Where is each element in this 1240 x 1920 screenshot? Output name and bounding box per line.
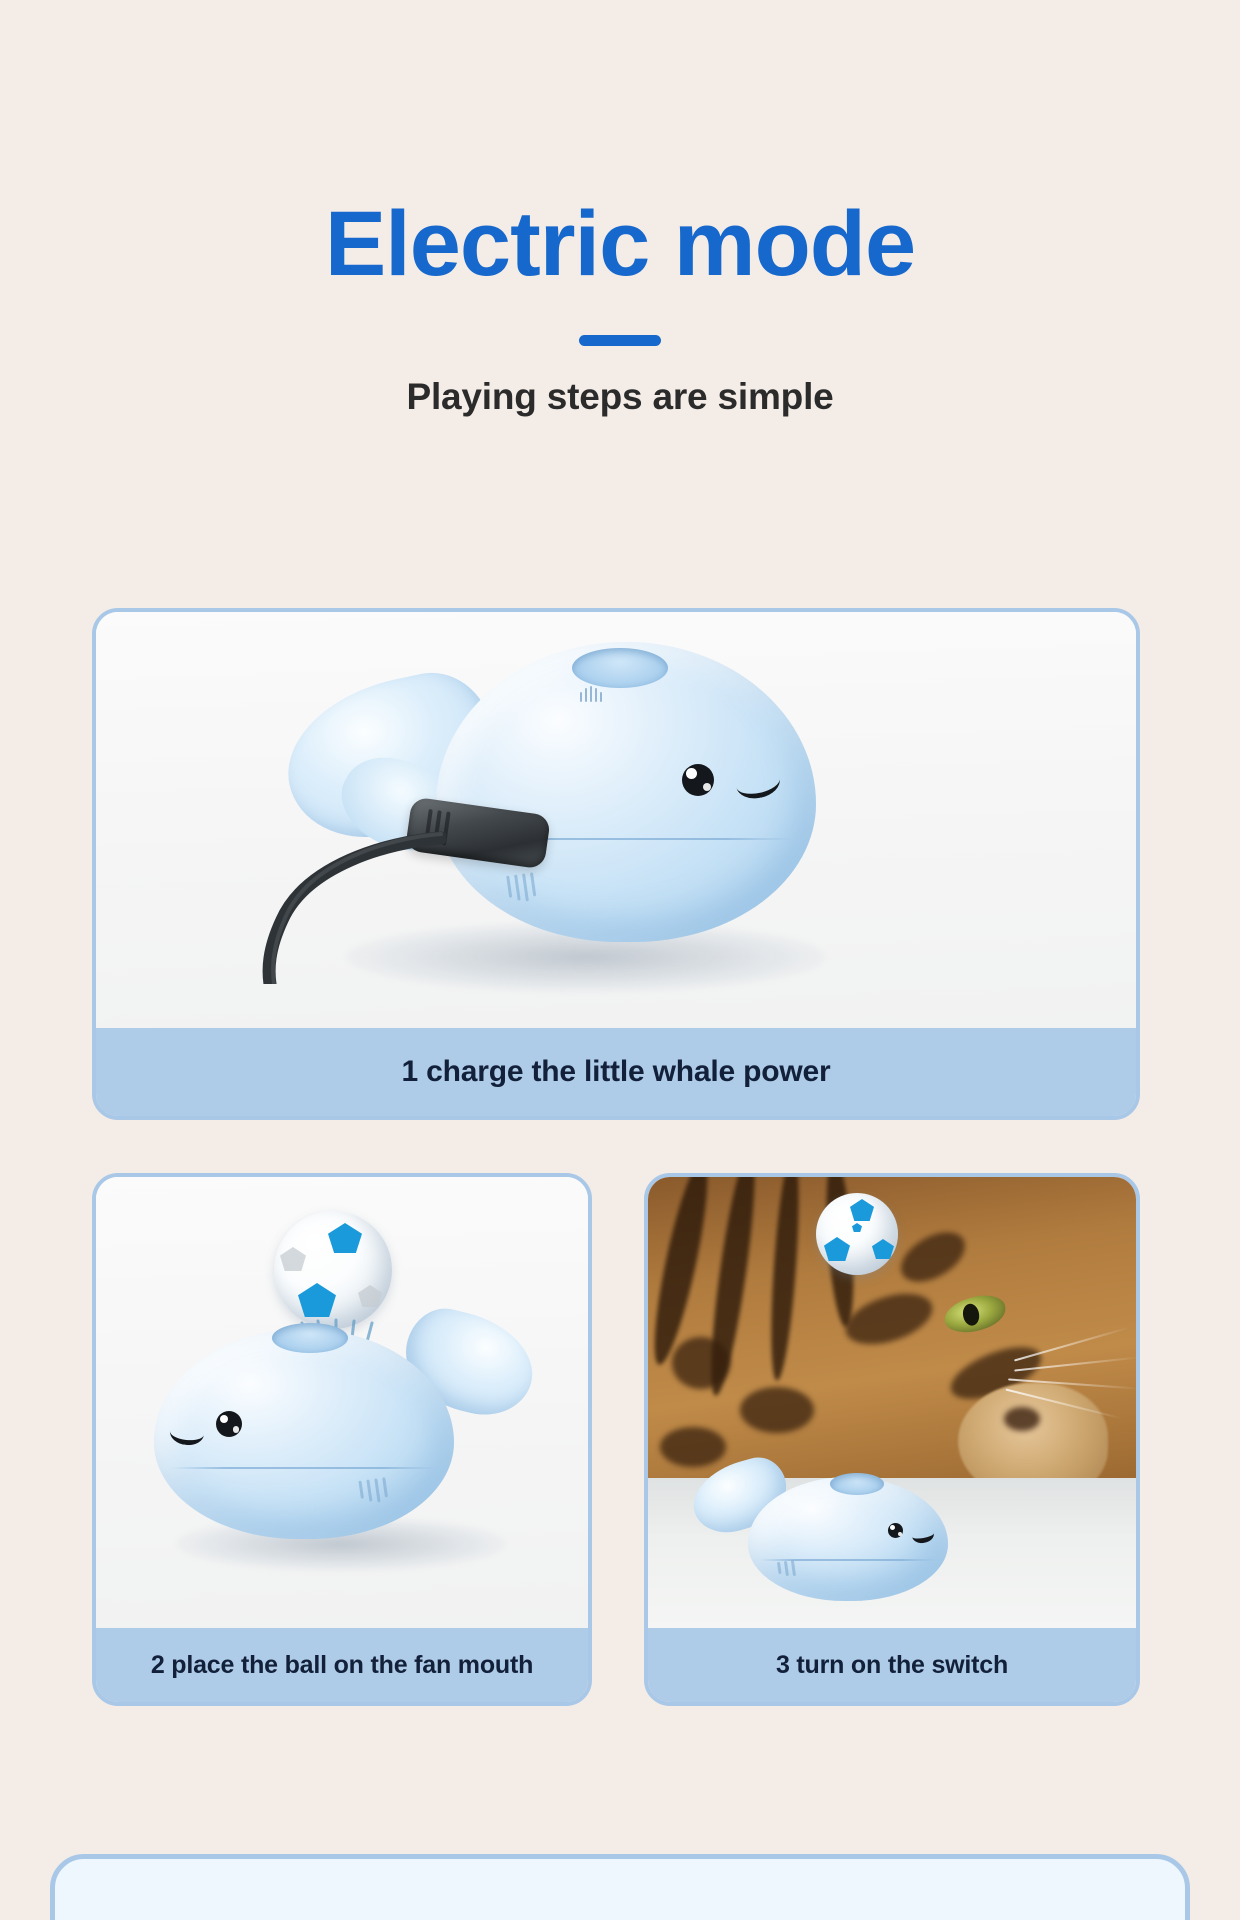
cat-pupil-icon: [961, 1303, 981, 1327]
cat-nose-icon: [1004, 1407, 1040, 1431]
whale-toy-icon: [436, 642, 816, 942]
whale-toy-icon: [154, 1329, 454, 1539]
cat-fur-blot: [740, 1387, 814, 1433]
whale-gills-icon: [506, 872, 537, 903]
ball-patch-icon: [328, 1223, 362, 1253]
ball-patch-icon: [824, 1237, 850, 1261]
infographic-page: Electric mode Playing steps are simple: [0, 0, 1240, 1920]
whale-eye-icon: [888, 1523, 903, 1538]
step-card-1[interactable]: 1 charge the little whale power: [92, 608, 1140, 1120]
ball-patch-icon: [280, 1247, 306, 1271]
cat-eye-icon: [942, 1292, 1009, 1336]
bottom-panel: [50, 1854, 1190, 1920]
whale-gills-icon: [358, 1477, 388, 1505]
ball-patch-icon: [358, 1285, 382, 1307]
step-1-image: [96, 612, 1136, 1028]
ball-patch-icon: [872, 1239, 894, 1259]
cat-fur-blot: [893, 1222, 974, 1292]
cat-whisker-icon: [1014, 1327, 1130, 1362]
whale-toy-icon: [748, 1477, 948, 1601]
whale-fan-mouth-icon: [272, 1323, 348, 1353]
cat-fur-stripe: [766, 1177, 804, 1381]
cat-fur-blot: [660, 1427, 726, 1467]
step-3-image: [648, 1177, 1136, 1628]
header: Electric mode Playing steps are simple: [0, 0, 1240, 418]
page-subtitle: Playing steps are simple: [0, 376, 1240, 418]
whale-eye-icon: [216, 1411, 242, 1437]
whale-fan-mouth-icon: [830, 1473, 884, 1495]
whale-gills-icon: [777, 1560, 796, 1578]
step-card-3[interactable]: 3 turn on the switch: [644, 1173, 1140, 1706]
step-card-2[interactable]: 2 place the ball on the fan mouth: [92, 1173, 592, 1706]
whale-fan-mouth-icon: [572, 648, 668, 688]
usb-cable-icon: [236, 824, 446, 984]
ball-patch-icon: [298, 1283, 336, 1317]
whale-seam-icon: [172, 1467, 436, 1469]
cat-fur-blot: [672, 1337, 730, 1389]
title-divider: [579, 335, 661, 346]
page-title: Electric mode: [0, 196, 1240, 293]
step-1-caption: 1 charge the little whale power: [96, 1028, 1136, 1116]
ball-patch-icon: [852, 1223, 862, 1232]
step-2-image: [96, 1177, 588, 1628]
step-2-caption: 2 place the ball on the fan mouth: [96, 1628, 588, 1702]
whale-eye-icon: [682, 764, 714, 796]
step-3-caption: 3 turn on the switch: [648, 1628, 1136, 1702]
ball-toy-icon: [274, 1211, 392, 1329]
cat-fur-blot: [839, 1284, 938, 1354]
whale-fan-grille-icon: [580, 686, 602, 702]
ball-patch-icon: [850, 1199, 874, 1221]
ball-toy-icon: [816, 1193, 898, 1275]
cat-photo: [648, 1177, 1136, 1628]
title-divider-wrap: [0, 335, 1240, 346]
